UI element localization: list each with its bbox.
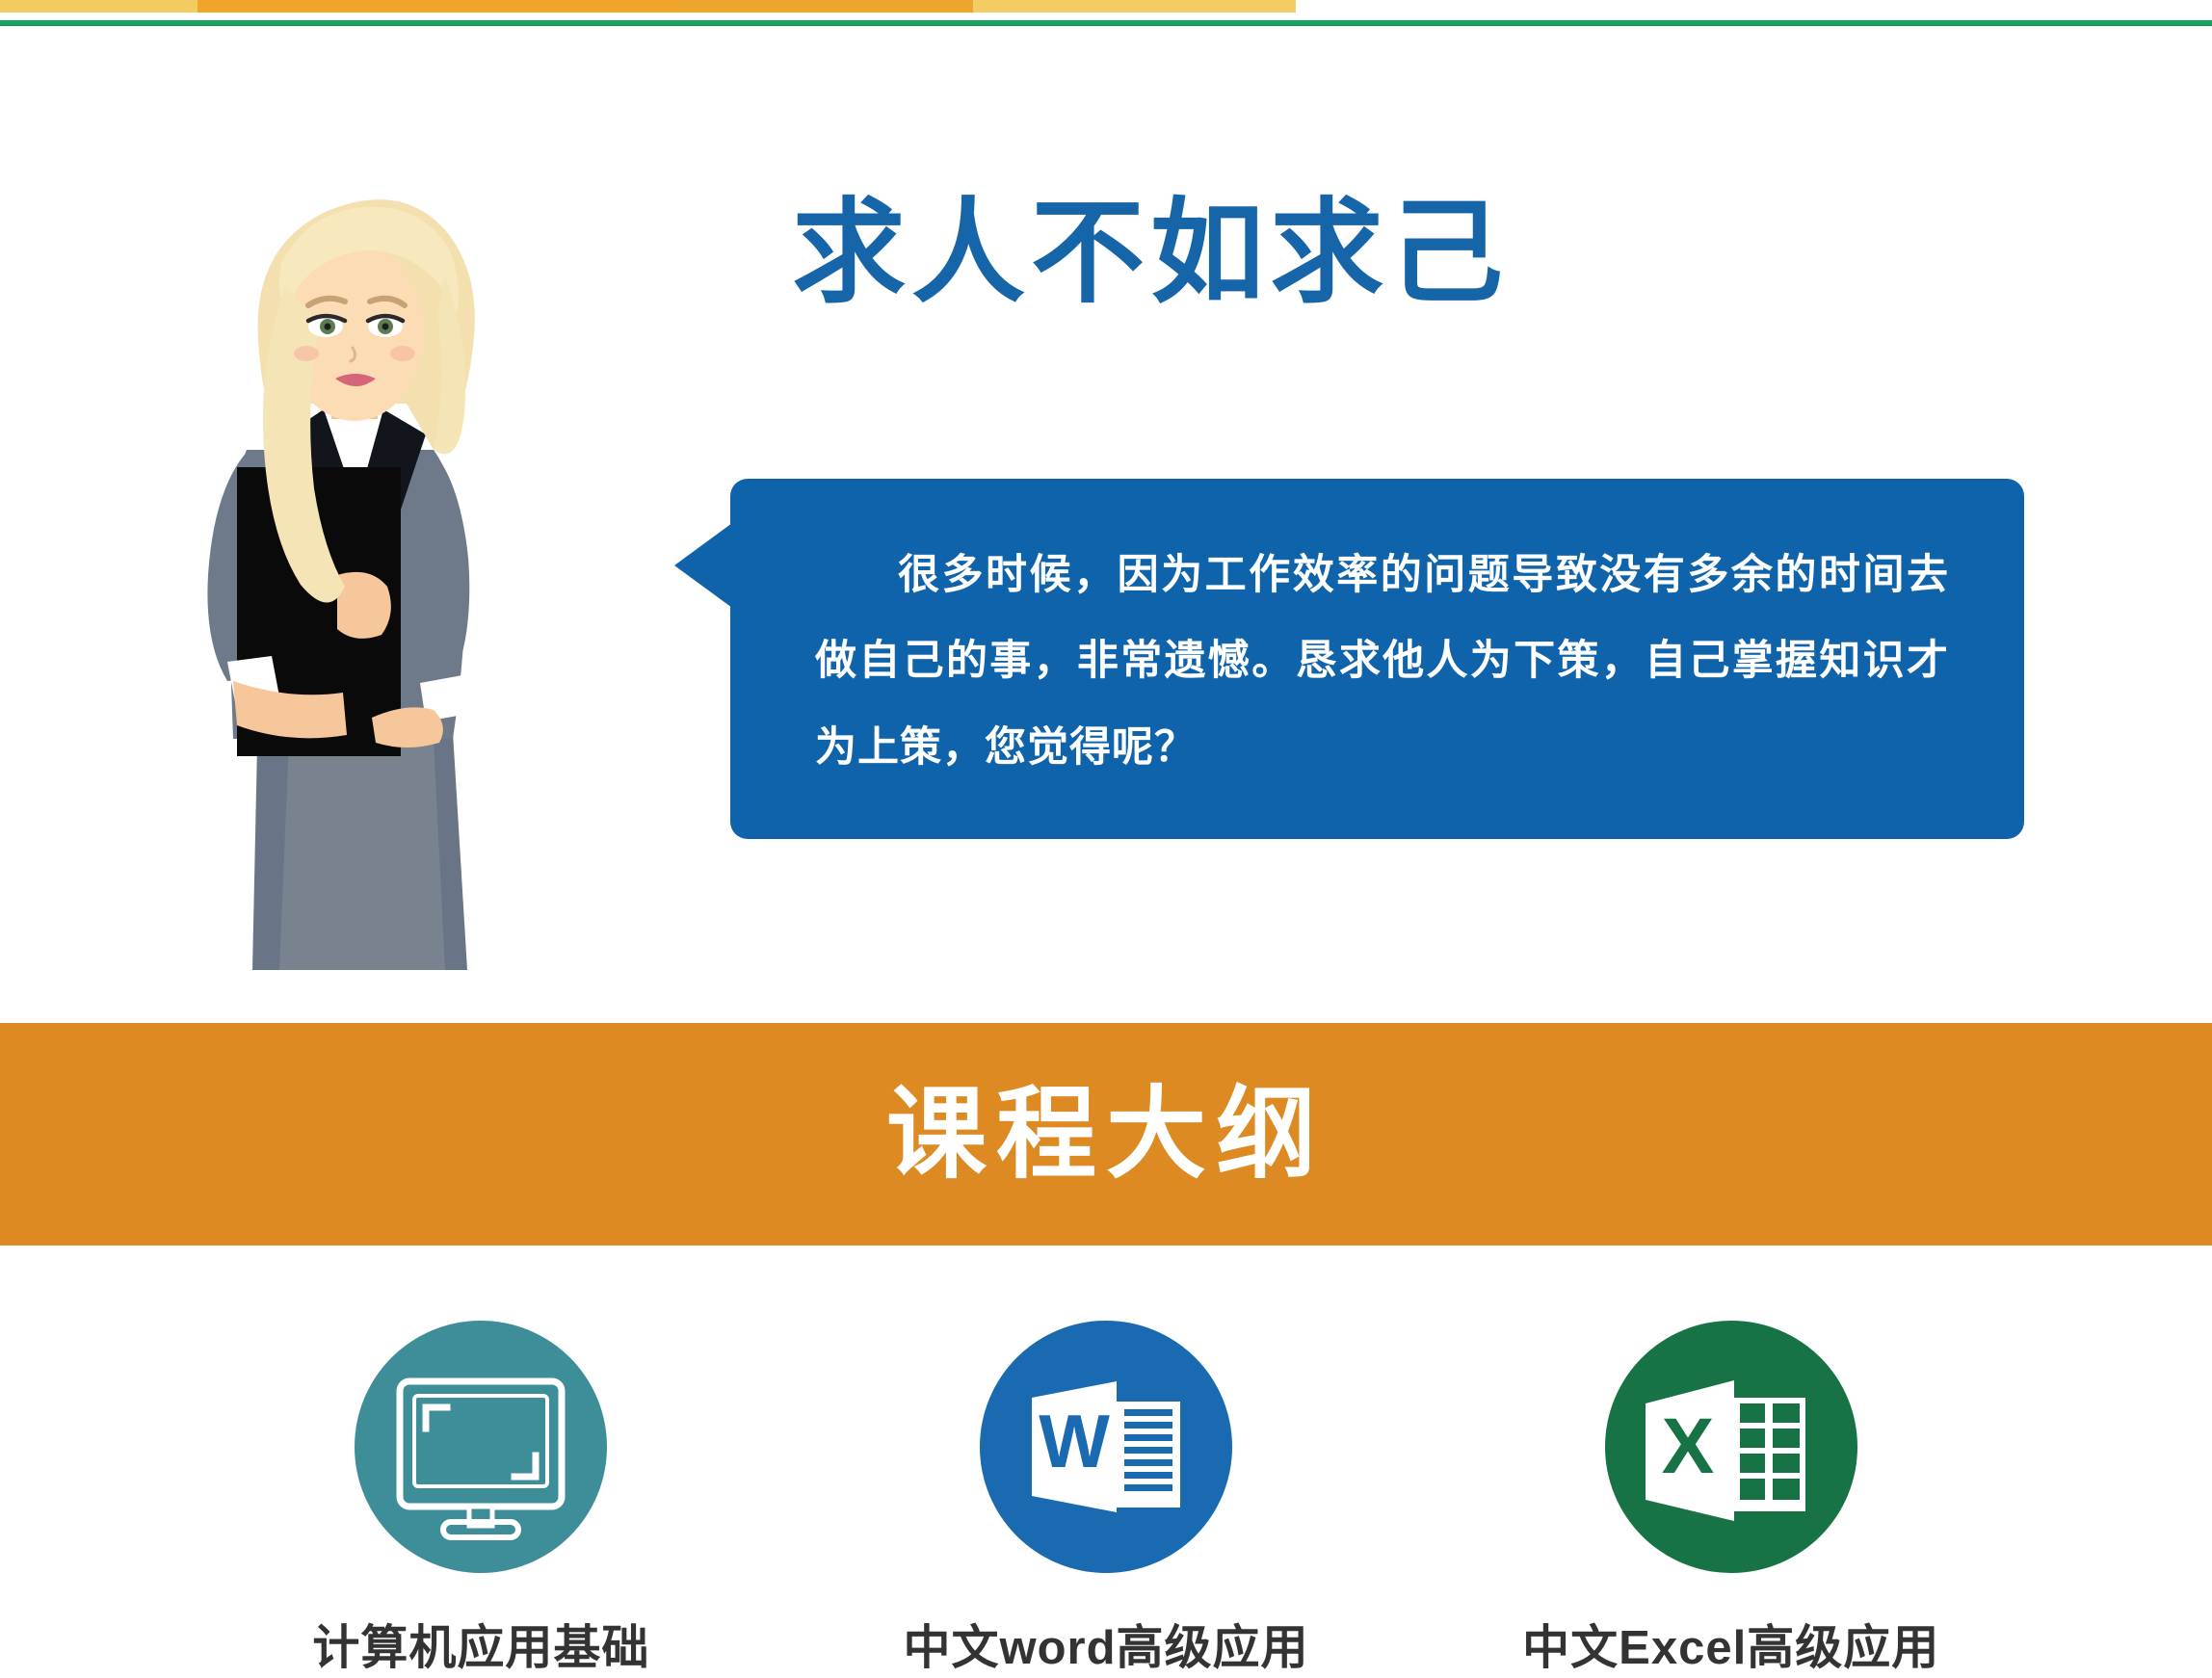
course-item-excel[interactable]: X 中文Excel高级应用 [1418, 1245, 2043, 1629]
businesswoman-illustration [145, 161, 559, 980]
course-item-word[interactable]: W 中文word高级应用 [794, 1245, 1419, 1629]
course-label: 中文Excel高级应用 [1522, 1610, 1939, 1678]
speech-bubble-tail [674, 523, 732, 608]
word-icon: W [980, 1321, 1232, 1573]
svg-text:X: X [1661, 1403, 1714, 1490]
hero-section: 求人不如求己 很多时候，因为工作效率的问题导致没有多余的时间去做自己的事，非常遗… [0, 26, 2212, 1023]
page-title: 求人不如求己 [792, 190, 1509, 317]
monitor-icon [355, 1321, 607, 1573]
excel-icon: X [1605, 1321, 1857, 1573]
section-banner-title: 课程大纲 [886, 1085, 1326, 1185]
top-accent-strip [0, 0, 1296, 13]
svg-text:W: W [1039, 1399, 1110, 1483]
course-item-computer-basics[interactable]: 计算机应用基础 [169, 1245, 794, 1629]
section-banner: 课程大纲 [0, 1023, 2212, 1245]
speech-bubble: 很多时候，因为工作效率的问题导致没有多余的时间去做自己的事，非常遗憾。恳求他人为… [674, 479, 2024, 839]
course-list: 计算机应用基础 W 中文word高级应用 [0, 1245, 2212, 1629]
speech-bubble-text: 很多时候，因为工作效率的问题导致没有多余的时间去做自己的事，非常遗憾。恳求他人为… [815, 533, 1949, 791]
course-label: 计算机应用基础 [312, 1610, 649, 1678]
course-label: 中文word高级应用 [903, 1610, 1308, 1678]
